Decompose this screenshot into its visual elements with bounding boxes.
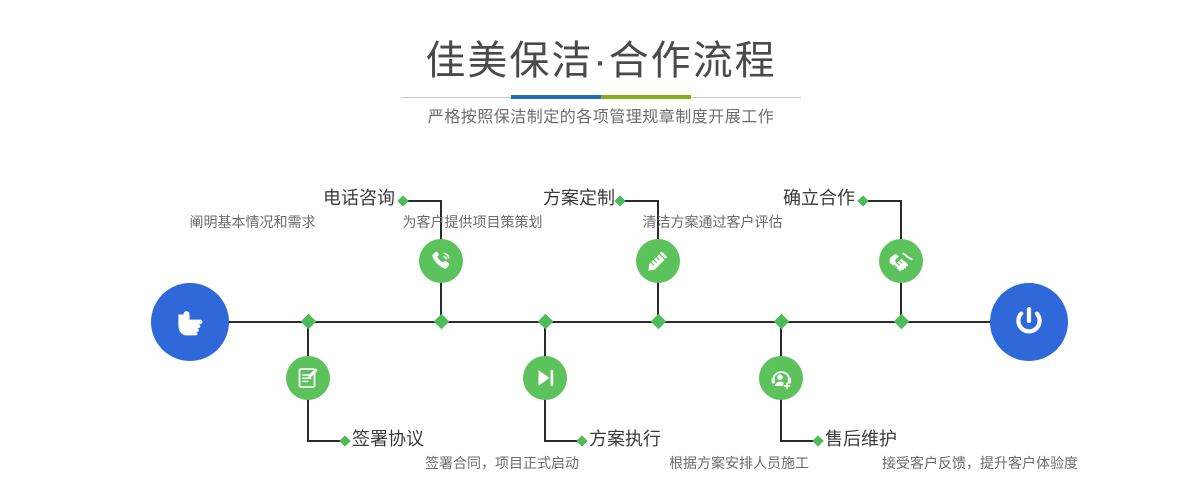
step-5-title: 确立合作 <box>570 186 855 210</box>
axis-marker-step-2 <box>301 314 317 330</box>
axis-marker-step-6 <box>774 314 790 330</box>
step-1-icon-badge[interactable] <box>419 239 463 283</box>
step-6-label: 售后维护 接受客户反馈，提升客户体验度 <box>825 427 1135 474</box>
step-5-subtitle: 清洁方案通过客户评估 <box>570 211 855 233</box>
step-2-icon-badge[interactable] <box>286 356 330 400</box>
divider-accent-green <box>601 95 691 99</box>
step-3-icon-badge[interactable] <box>636 239 680 283</box>
power-button-icon <box>1008 301 1050 343</box>
step-5-label: 确立合作 清洁方案通过客户评估 <box>570 186 855 233</box>
step-6-title: 售后维护 <box>825 427 1135 451</box>
page-title: 佳美保洁·合作流程 <box>0 38 1202 84</box>
flowchart-canvas: 佳美保洁·合作流程 严格按照保洁制定的各项管理规章制度开展工作 <box>0 0 1202 502</box>
pointing-hand-icon <box>170 302 210 342</box>
play-forward-icon <box>532 365 558 391</box>
title-divider <box>401 95 801 100</box>
customer-service-add-icon <box>768 365 794 391</box>
axis-marker-step-1 <box>434 314 450 330</box>
step-4-icon-badge[interactable] <box>523 356 567 400</box>
pencil-ruler-icon <box>645 248 671 274</box>
step-6-subtitle: 接受客户反馈，提升客户体验度 <box>825 452 1135 474</box>
axis-marker-step-5 <box>894 314 910 330</box>
step-5-label-marker <box>857 195 868 206</box>
document-edit-icon <box>295 365 321 391</box>
page-subtitle: 严格按照保洁制定的各项管理规章制度开展工作 <box>0 106 1202 130</box>
flow-end-node[interactable] <box>990 283 1068 361</box>
divider-accent-blue <box>511 95 601 99</box>
step-5-icon-badge[interactable] <box>879 239 923 283</box>
step-6-icon-badge[interactable] <box>759 356 803 400</box>
step-2-label-marker <box>339 435 350 446</box>
ringing-phone-icon <box>428 248 454 274</box>
handshake-icon <box>887 247 915 275</box>
axis-marker-step-4 <box>538 314 554 330</box>
axis-marker-step-3 <box>651 314 667 330</box>
step-5-connector-horizontal <box>864 200 902 202</box>
flow-start-node[interactable] <box>151 283 229 361</box>
